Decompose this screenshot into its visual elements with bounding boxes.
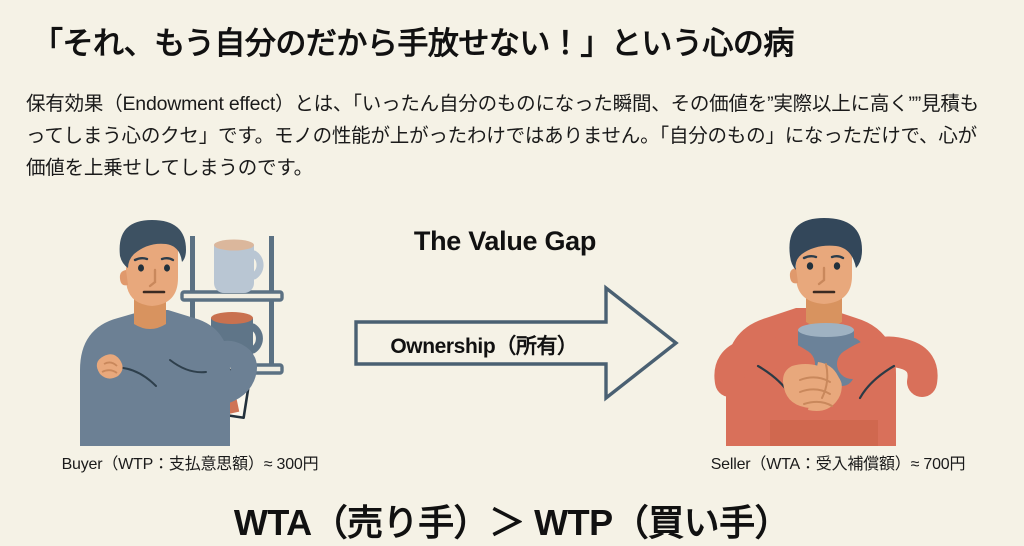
seller-illustration: [700, 214, 952, 446]
value-gap-title: The Value Gap: [350, 226, 660, 257]
buyer-illustration-svg: [70, 214, 332, 446]
body-paragraph: 保有効果（Endowment effect）とは、「いったん自分のものになった瞬…: [26, 88, 992, 184]
buyer-illustration: [70, 214, 332, 446]
seller-illustration-svg: [700, 214, 952, 446]
ownership-label: Ownership（所有）: [356, 330, 612, 360]
page-title: 「それ、もう自分のだから手放せない！」という心の病: [32, 18, 992, 63]
seller-caption: Seller（WTA：受入補償額）≈ 700円: [668, 450, 1008, 474]
conclusion-statement: WTA（売り手）＞ WTP（買い手）: [0, 494, 1024, 546]
buyer-caption: Buyer（WTP：支払意思額）≈ 300円: [20, 450, 360, 474]
shelf-mug-light: [214, 240, 260, 294]
slide-canvas: 「それ、もう自分のだから手放せない！」という心の病 保有効果（Endowment…: [0, 0, 1024, 546]
seller-figure: [726, 218, 923, 446]
